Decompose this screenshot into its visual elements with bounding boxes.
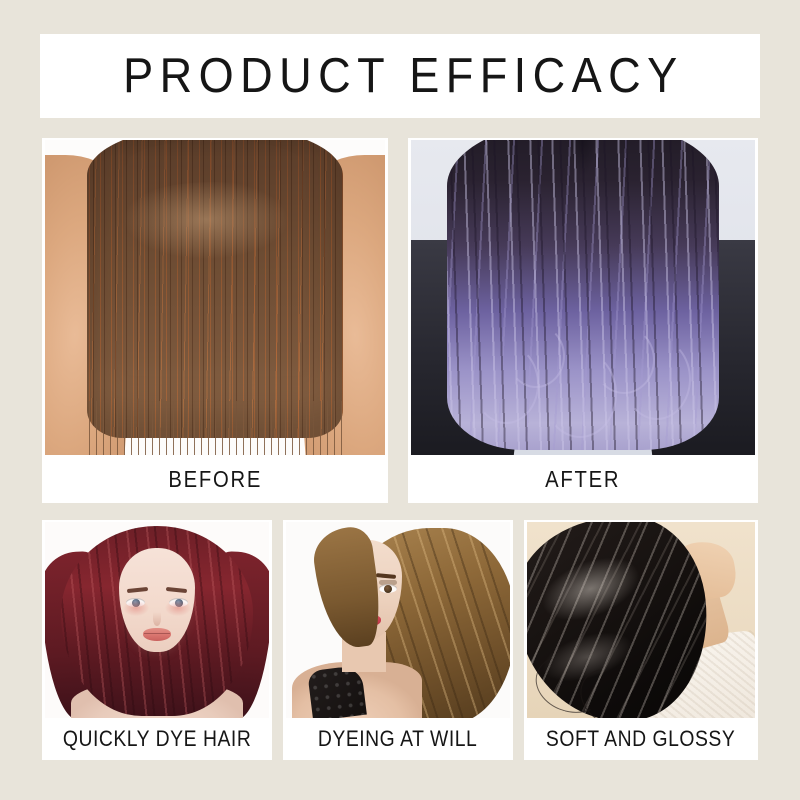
product-efficacy-poster: PRODUCT EFFICACY BEFORE — [0, 0, 800, 800]
after-caption-label: AFTER — [545, 466, 620, 493]
title-band: PRODUCT EFFICACY — [40, 34, 760, 118]
quickly-dye-hair-photo — [45, 522, 269, 718]
dyeing-at-will-caption: DYEING AT WILL — [283, 718, 513, 760]
soft-and-glossy-caption: SOFT AND GLOSSY — [524, 718, 758, 760]
soft-and-glossy-card[interactable]: SOFT AND GLOSSY — [524, 520, 758, 760]
brown-hair — [87, 140, 343, 438]
hair-tips — [87, 401, 343, 455]
quickly-dye-hair-card[interactable]: QUICKLY DYE HAIR — [42, 520, 272, 760]
quickly-dye-hair-caption: QUICKLY DYE HAIR — [42, 718, 272, 760]
dyeing-at-will-photo — [286, 522, 510, 718]
after-caption: AFTER — [408, 455, 758, 503]
soft-and-glossy-label: SOFT AND GLOSSY — [546, 726, 735, 752]
dyeing-at-will-card[interactable]: DYEING AT WILL — [283, 520, 513, 760]
quickly-dye-hair-label: QUICKLY DYE HAIR — [63, 726, 251, 752]
after-hair-photo — [411, 140, 755, 455]
before-caption-label: BEFORE — [168, 466, 262, 493]
before-card[interactable]: BEFORE — [42, 138, 388, 503]
page-title: PRODUCT EFFICACY — [116, 52, 683, 101]
soft-and-glossy-photo — [527, 522, 755, 718]
after-card[interactable]: AFTER — [408, 138, 758, 503]
black-lace-top — [307, 665, 367, 718]
dyeing-at-will-label: DYEING AT WILL — [318, 726, 477, 752]
before-hair-photo — [45, 140, 385, 455]
lavender-hair — [447, 140, 719, 450]
before-caption: BEFORE — [42, 455, 388, 503]
